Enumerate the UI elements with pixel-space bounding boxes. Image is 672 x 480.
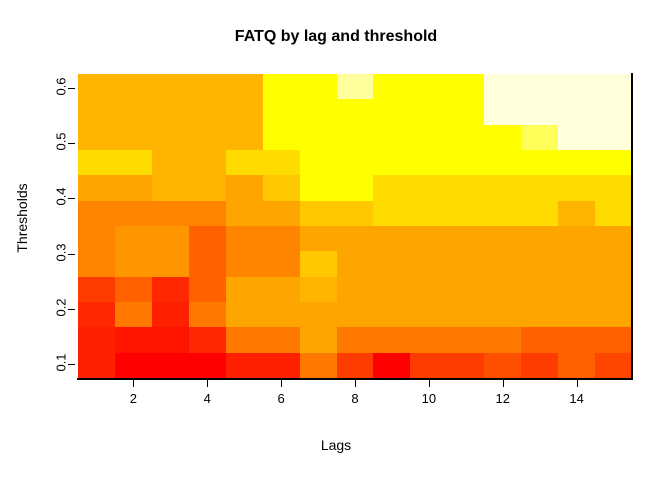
heatmap-cell [447,327,484,352]
x-tick-label: 6 [278,391,285,406]
heatmap-cell [152,74,189,99]
heatmap-cell [189,302,226,327]
heatmap-cell [521,125,558,150]
heatmap-cell [226,353,263,378]
heatmap-cell [410,175,447,200]
heatmap-cell [447,99,484,124]
heatmap-cell [300,226,337,251]
heatmap-cell [115,226,152,251]
x-tick-mark [577,380,578,387]
heatmap-cell [337,150,374,175]
heatmap-cell [558,201,595,226]
heatmap-cell [78,74,115,99]
heatmap-cell [115,353,152,378]
heatmap-cell [189,74,226,99]
heatmap-cell [152,353,189,378]
heatmap-cell [337,175,374,200]
heatmap-cell [337,99,374,124]
heatmap-cell [115,327,152,352]
heatmap-cell [300,74,337,99]
y-axis-label: Thresholds [14,158,30,278]
x-tick-mark [207,380,208,387]
heatmap-cell [226,201,263,226]
heatmap-cell [226,251,263,276]
heatmap-cell [189,277,226,302]
heatmap-cell [558,74,595,99]
heatmap-cell [115,150,152,175]
y-tick-label: 0.1 [52,355,70,370]
heatmap-cell [115,302,152,327]
heatmap-cell [595,125,632,150]
heatmap-cell [78,226,115,251]
y-tick-label: 0.4 [52,189,70,204]
heatmap-cell [484,201,521,226]
heatmap-cell [558,302,595,327]
heatmap-cell [521,302,558,327]
heatmap-cell [226,150,263,175]
heatmap-cell [337,226,374,251]
heatmap-cell [226,277,263,302]
heatmap-cell [484,327,521,352]
heatmap-cell [447,150,484,175]
heatmap-cell [263,150,300,175]
heatmap-cell [78,327,115,352]
heatmap-cell [300,251,337,276]
heatmap-cell [115,277,152,302]
heatmap-cell [263,251,300,276]
heatmap-cell [410,99,447,124]
heatmap-cell [521,353,558,378]
heatmap-cell [115,201,152,226]
heatmap-cell [447,175,484,200]
heatmap-cell [78,277,115,302]
heatmap-cell [300,277,337,302]
heatmap-cell [152,226,189,251]
heatmap-cell [521,251,558,276]
chart-canvas: FATQ by lag and threshold 2468101214 0.1… [0,0,672,480]
x-tick-mark [503,380,504,387]
heatmap-cell [115,251,152,276]
heatmap-cell [263,327,300,352]
heatmap-cell [484,353,521,378]
heatmap-cell [373,201,410,226]
x-tick-mark [281,380,282,387]
heatmap-cell [337,277,374,302]
heatmap-cell [410,277,447,302]
x-axis-label: Lags [0,437,672,453]
heatmap-cell [78,251,115,276]
heatmap-cell [595,74,632,99]
heatmap-cell [78,99,115,124]
heatmap-cell [263,125,300,150]
heatmap-cell [78,302,115,327]
heatmap-cell [337,251,374,276]
x-tick-label: 10 [422,391,436,406]
heatmap-cell [447,353,484,378]
heatmap-cell [447,226,484,251]
heatmap-cell [337,327,374,352]
heatmap-cell [152,99,189,124]
heatmap-cell [521,74,558,99]
heatmap-cell [484,99,521,124]
heatmap-cell [226,302,263,327]
heatmap-cell [595,175,632,200]
heatmap-cell [558,327,595,352]
heatmap-cell [558,353,595,378]
y-tick-label: 0.6 [52,79,70,94]
x-tick-mark [133,380,134,387]
heatmap-cell [78,125,115,150]
heatmap-cell [189,327,226,352]
heatmap-cell [558,251,595,276]
heatmap-cell [410,226,447,251]
heatmap-cell [263,302,300,327]
heatmap-cell [595,99,632,124]
heatmap-cell [558,226,595,251]
heatmap-cell [152,125,189,150]
heatmap-cell [263,226,300,251]
heatmap-cell [373,175,410,200]
heatmap-cell [484,175,521,200]
heatmap-cell [152,251,189,276]
heatmap-cell [484,251,521,276]
heatmap-cell [558,277,595,302]
heatmap-cell [226,99,263,124]
heatmap-cell [263,74,300,99]
heatmap-cell [226,125,263,150]
heatmap-cell [189,175,226,200]
heatmap-cell [115,99,152,124]
heatmap-cell [484,277,521,302]
heatmap-cell [300,99,337,124]
heatmap-cell [595,302,632,327]
heatmap-cell [78,175,115,200]
heatmap-cell [373,125,410,150]
heatmap-cell [300,353,337,378]
heatmap-cell [78,150,115,175]
x-tick-label: 4 [204,391,211,406]
heatmap-cell [558,99,595,124]
heatmap-cell [595,327,632,352]
heatmap-cell [373,277,410,302]
heatmap-cell [115,74,152,99]
heatmap-cell [410,74,447,99]
heatmap-cell [558,175,595,200]
heatmap-cell [226,327,263,352]
heatmap-cell [373,353,410,378]
heatmap-cell [410,201,447,226]
heatmap-cell [373,327,410,352]
heatmap-cell [373,302,410,327]
heatmap-cell [78,353,115,378]
heatmap-cell [521,99,558,124]
heatmap-cell [595,226,632,251]
heatmap-cell [410,150,447,175]
heatmap-cell [521,175,558,200]
heatmap-cell [595,353,632,378]
heatmap-cell [189,251,226,276]
heatmap-cell [337,302,374,327]
heatmap-cell [226,74,263,99]
y-axis-right-line [631,73,633,379]
heatmap-cell [521,226,558,251]
heatmap-cell [373,226,410,251]
heatmap-cell [263,99,300,124]
heatmap-cell [152,302,189,327]
heatmap-cell [484,125,521,150]
heatmap-cell [595,150,632,175]
heatmap-cell [558,125,595,150]
heatmap-cell [373,251,410,276]
heatmap-cell [263,277,300,302]
heatmap-cell [152,150,189,175]
heatmap-cell [300,125,337,150]
heatmap-cell [300,327,337,352]
x-tick-label: 2 [130,391,137,406]
y-tick-label: 0.5 [52,134,70,149]
heatmap-cell [521,327,558,352]
heatmap-cell [263,353,300,378]
heatmap-cell [521,277,558,302]
x-tick-label: 12 [495,391,509,406]
heatmap-cell [115,175,152,200]
y-tick-label: 0.2 [52,300,70,315]
x-tick-mark [429,380,430,387]
heatmap-cell [484,74,521,99]
heatmap-cell [189,353,226,378]
heatmap-cell [263,201,300,226]
heatmap-cell [300,175,337,200]
heatmap-cell [152,175,189,200]
heatmap-cell [300,150,337,175]
heatmap-cell [337,201,374,226]
heatmap-cell [484,302,521,327]
heatmap-cell [373,99,410,124]
heatmap-cell [447,302,484,327]
heatmap-cell [263,175,300,200]
heatmap-cell [410,251,447,276]
heatmap-grid [78,74,632,378]
heatmap-cell [484,226,521,251]
heatmap-cell [226,226,263,251]
heatmap-cell [410,302,447,327]
x-tick-label: 8 [351,391,358,406]
heatmap-cell [373,74,410,99]
x-tick-mark [355,380,356,387]
heatmap-cell [410,353,447,378]
heatmap-cell [337,353,374,378]
heatmap-cell [189,226,226,251]
heatmap-plot-area [78,74,632,378]
heatmap-cell [189,201,226,226]
heatmap-cell [78,201,115,226]
heatmap-cell [189,150,226,175]
heatmap-cell [447,74,484,99]
heatmap-cell [300,201,337,226]
heatmap-cell [558,150,595,175]
y-tick-label: 0.3 [52,245,70,260]
heatmap-cell [484,150,521,175]
heatmap-cell [447,277,484,302]
heatmap-cell [152,327,189,352]
heatmap-cell [595,201,632,226]
x-tick-label: 14 [569,391,583,406]
heatmap-cell [300,302,337,327]
heatmap-cell [410,327,447,352]
page-title: FATQ by lag and threshold [0,28,672,46]
heatmap-cell [595,251,632,276]
heatmap-cell [447,251,484,276]
heatmap-cell [152,201,189,226]
heatmap-cell [226,175,263,200]
heatmap-cell [447,125,484,150]
heatmap-cell [115,125,152,150]
heatmap-cell [152,277,189,302]
heatmap-cell [189,99,226,124]
heatmap-cell [595,277,632,302]
heatmap-cell [447,201,484,226]
heatmap-cell [189,125,226,150]
heatmap-cell [521,201,558,226]
heatmap-cell [373,150,410,175]
heatmap-cell [337,74,374,99]
heatmap-cell [410,125,447,150]
heatmap-cell [521,150,558,175]
heatmap-cell [337,125,374,150]
